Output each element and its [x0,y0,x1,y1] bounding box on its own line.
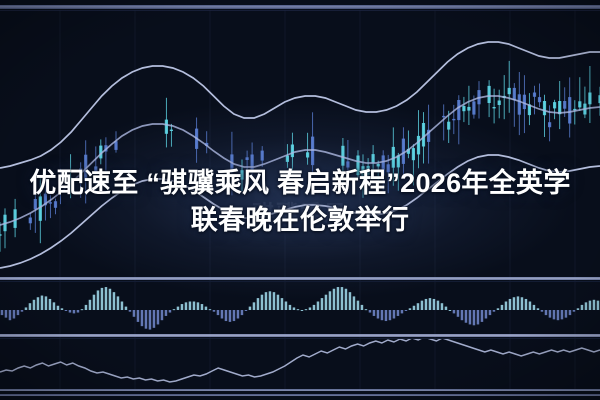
headline-block: 优配速至 “骐骥乘风 春启新程”2026年全英学 联春晚在伦敦举行 [0,0,600,400]
news-banner: 骐骥乘风 优配速至 “骐骥乘风 春启新程”2026年全英学 联春晚在伦敦举行 [0,0,600,400]
headline-line-2: 联春晚在伦敦举行 [191,205,409,236]
headline-line-1: 优配速至 “骐骥乘风 春启新程”2026年全英学 [29,168,570,199]
